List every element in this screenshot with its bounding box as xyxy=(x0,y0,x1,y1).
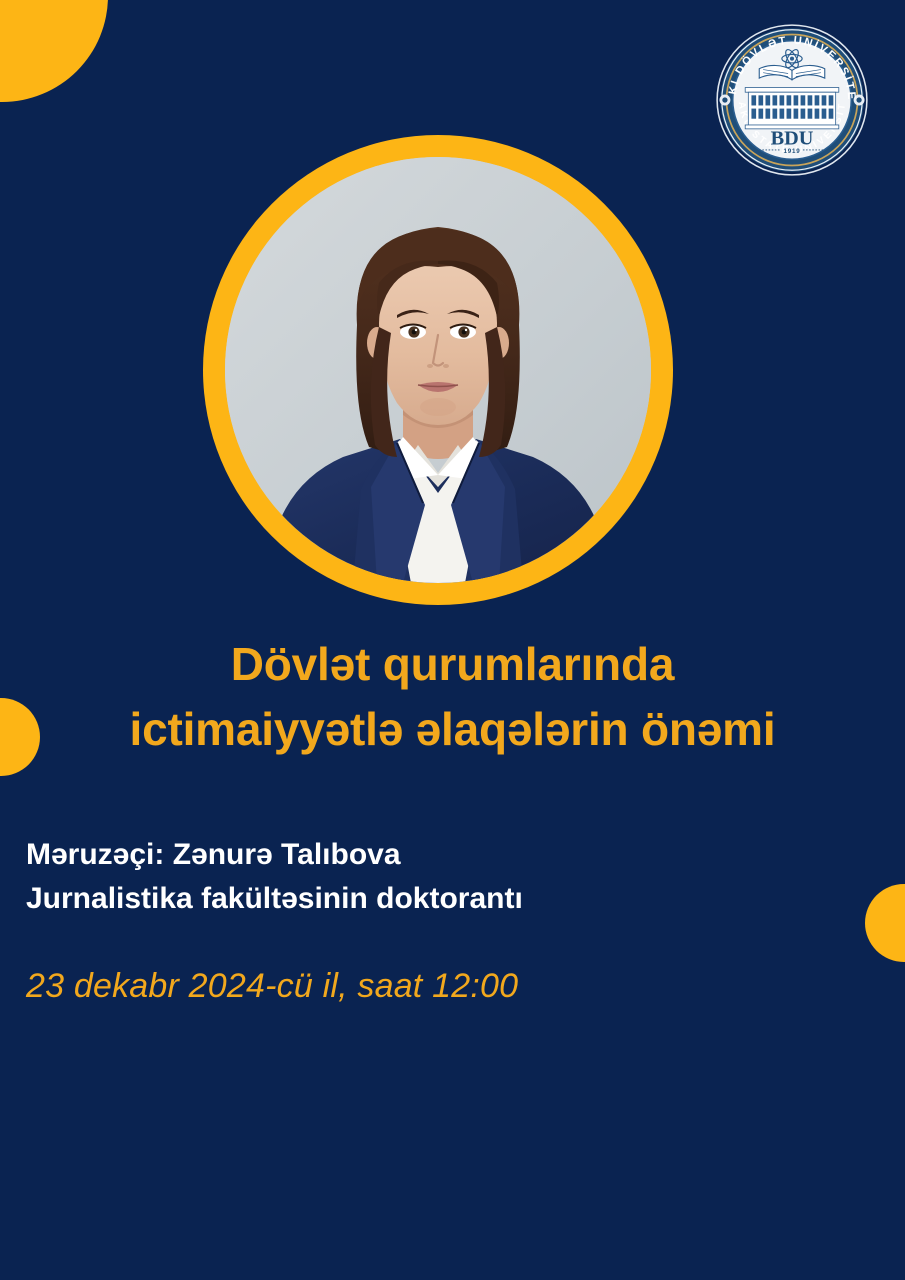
speaker-portrait-photo xyxy=(225,157,651,583)
event-poster: BAKI DÖVLƏT UNİVERSİTETİ BAKU STATE UNIV… xyxy=(0,0,905,1280)
poster-title-line-1: Dövlət qurumlarında xyxy=(30,632,875,697)
event-datetime: 23 dekabr 2024-cü il, saat 12:00 xyxy=(26,966,518,1007)
speaker-affiliation: Jurnalistika fakültəsinin doktorantı xyxy=(26,877,523,921)
svg-text:1919: 1919 xyxy=(784,148,801,155)
university-logo: BAKI DÖVLƏT UNİVERSİTETİ BAKU STATE UNIV… xyxy=(714,22,870,178)
poster-title-line-2: ictimaiyyətlə əlaqələrin önəmi xyxy=(30,697,875,762)
speaker-portrait-ring xyxy=(203,135,673,605)
speaker-name: Məruzəçi: Zənurə Talıbova xyxy=(26,833,523,877)
speaker-info: Məruzəçi: Zənurə Talıbova Jurnalistika f… xyxy=(26,833,523,920)
svg-text:BDU: BDU xyxy=(771,127,814,149)
decor-circle-top-left xyxy=(0,0,108,102)
poster-title: Dövlət qurumlarında ictimaiyyətlə əlaqəl… xyxy=(0,632,905,763)
decor-circle-right xyxy=(865,884,905,962)
